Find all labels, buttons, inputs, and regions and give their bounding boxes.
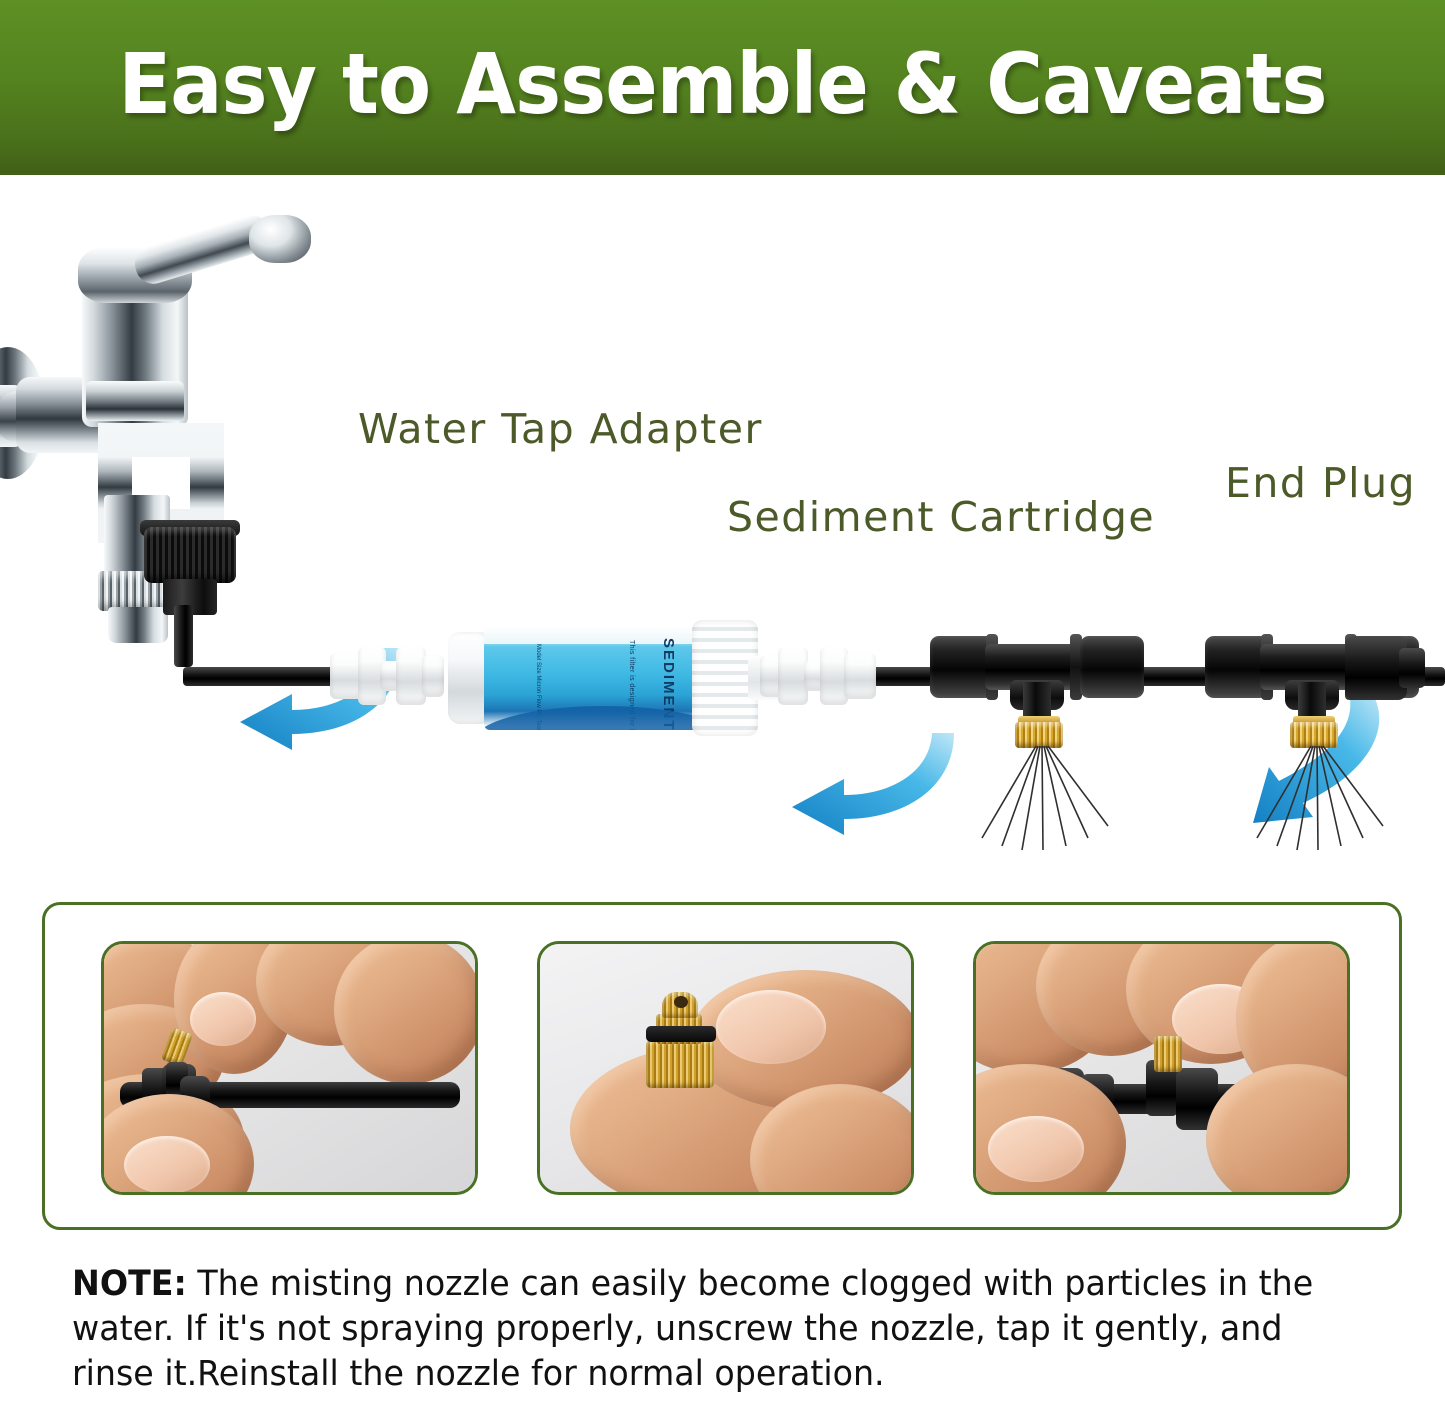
mist-spray-lines [1205,742,1445,852]
tee-fitting-nozzle-1 [930,630,1195,730]
cartridge-specs-text: Model Size Micron Flow PC-Test [532,644,543,730]
note-text: NOTE: The misting nozzle can easily beco… [72,1262,1326,1396]
cartridge-description-text: This filter is designed for highly effec… [627,640,636,730]
callout-sediment-cartridge: Sediment Cartridge [727,493,1155,541]
cartridge-label-body: SEDIMENT CARTRIDGE For Remove Of Sand Di… [484,626,699,730]
page-title: Easy to Assemble & Caveats [58,0,1387,175]
tap-adapter-body [144,527,236,583]
header-banner: Easy to Assemble & Caveats [0,0,1445,175]
tubing-vertical-segment [174,605,193,667]
quick-connect-fitting-2 [760,645,878,707]
cartridge-title-text: SEDIMENT CARTRIDGE [660,638,677,730]
note-body: The misting nozzle can easily become clo… [72,1264,1313,1394]
faucet-lever-knob [249,215,311,263]
end-plug-fitting [1345,636,1425,708]
tee-nut-right [1080,636,1144,698]
instruction-photos-container [42,902,1402,1230]
mist-spray-lines [930,742,1195,852]
tubing-segment-1 [183,667,338,686]
photo-panel-insert-nozzle [101,941,478,1195]
faucet-collar [86,381,184,421]
assembly-diagram: Water Tap Adapter Sediment Cartridge End… [0,175,1445,890]
faucet-aerator-tip [108,607,168,643]
sediment-cartridge: SEDIMENT CARTRIDGE For Remove Of Sand Di… [448,618,768,738]
note-prefix: NOTE: [72,1264,187,1304]
photo-panel-brass-nozzle-closeup [537,941,914,1195]
infographic-page: Easy to Assemble & Caveats Water Tap Ada… [0,0,1445,1406]
photo-panel-tighten-nozzle [973,941,1350,1195]
quick-connect-fitting-1 [330,645,448,707]
callout-water-tap-adapter: Water Tap Adapter [358,405,763,453]
callout-end-plug: End Plug [1225,459,1416,507]
